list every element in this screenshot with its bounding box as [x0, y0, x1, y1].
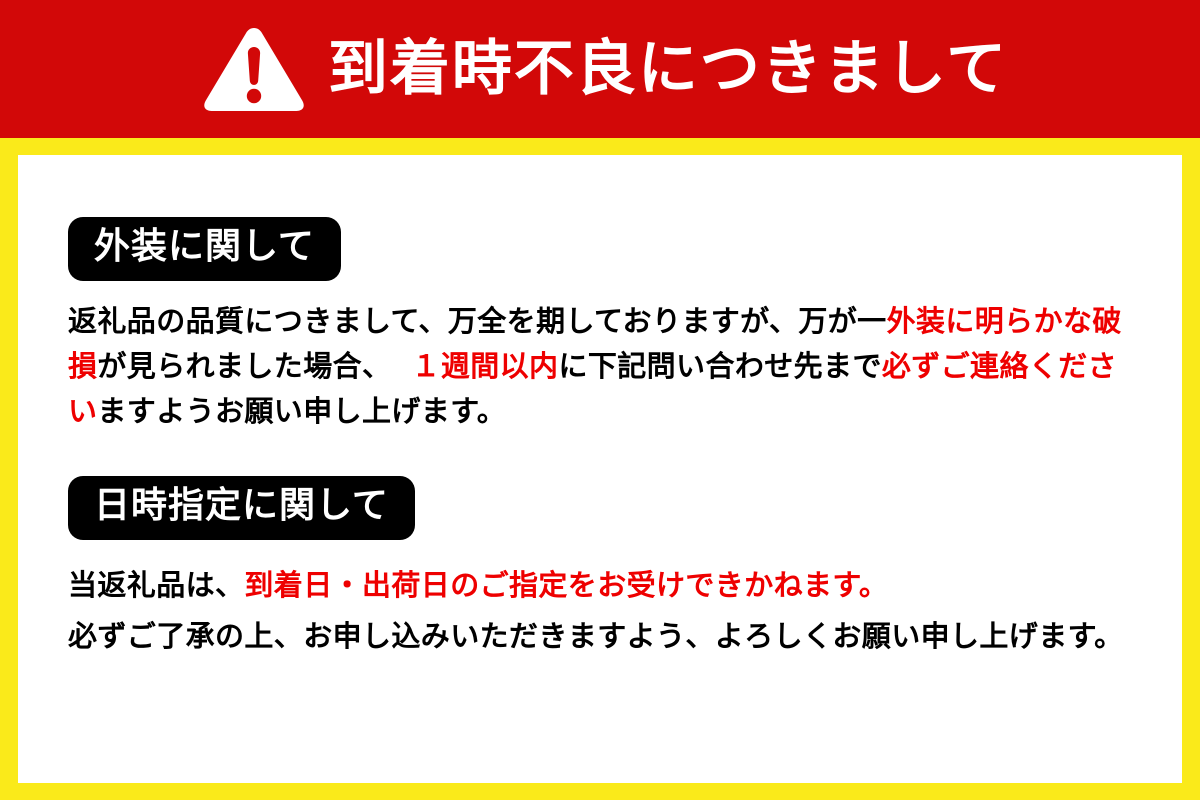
- body-run-emphasis: 必ずご連絡くださ: [882, 349, 1117, 383]
- body-run: 返礼品の品質につきまして、万全を期しておりますが、万が一: [68, 304, 887, 338]
- body-run: に下記問い合わせ先まで: [558, 349, 881, 383]
- section-body-date-designation: 当返礼品は、到着日・出荷日のご指定をお受けできかねます。 必ずご了承の上、お申し…: [68, 560, 1134, 662]
- page-title: 到着時不良につきまして: [328, 39, 1008, 99]
- header-banner: 到着時不良につきまして: [0, 0, 1200, 138]
- body-line: 損が見られました場合、１週間以内に下記問い合わせ先まで必ずご連絡くださ: [68, 344, 1134, 389]
- warning-triangle-icon: [202, 25, 306, 113]
- body-run-emphasis: 損: [68, 349, 97, 383]
- body-line: いますようお願い申し上げます。: [68, 389, 1134, 434]
- section-packaging: 外装に関して 返礼品の品質につきまして、万全を期しておりますが、万が一外装に明ら…: [68, 217, 1134, 434]
- content-panel: 外装に関して 返礼品の品質につきまして、万全を期しておりますが、万が一外装に明ら…: [18, 155, 1182, 783]
- section-heading-badge: 外装に関して: [68, 217, 341, 281]
- yellow-frame: 外装に関して 返礼品の品質につきまして、万全を期しておりますが、万が一外装に明ら…: [0, 138, 1200, 800]
- section-date-designation: 日時指定に関して 当返礼品は、到着日・出荷日のご指定をお受けできかねます。 必ず…: [68, 476, 1134, 662]
- body-run-emphasis: い: [68, 394, 97, 428]
- section-body-packaging: 返礼品の品質につきまして、万全を期しておりますが、万が一外装に明らかな破 損が見…: [68, 299, 1134, 434]
- body-run-emphasis: １週間以内: [411, 349, 558, 383]
- body-run: 当返礼品は、: [68, 568, 244, 602]
- body-run-emphasis: 到着日・出荷日のご指定をお受けできかねます。: [244, 568, 888, 602]
- body-run: 必ずご了承の上、お申し込みいただきますよう、よろしくお願い申し上げます。: [68, 619, 1124, 653]
- body-line: 当返礼品は、到着日・出荷日のご指定をお受けできかねます。: [68, 560, 1134, 611]
- body-run-emphasis: 外装に明らかな破: [887, 304, 1122, 338]
- body-run: が見られました場合、: [97, 349, 391, 383]
- body-line: 必ずご了承の上、お申し込みいただきますよう、よろしくお願い申し上げます。: [68, 611, 1134, 662]
- notice-graphic: 到着時不良につきまして 外装に関して 返礼品の品質につきまして、万全を期しており…: [0, 0, 1200, 800]
- section-heading-badge: 日時指定に関して: [68, 476, 415, 540]
- body-run: ますようお願い申し上げます。: [97, 394, 506, 428]
- body-line: 返礼品の品質につきまして、万全を期しておりますが、万が一外装に明らかな破: [68, 299, 1134, 344]
